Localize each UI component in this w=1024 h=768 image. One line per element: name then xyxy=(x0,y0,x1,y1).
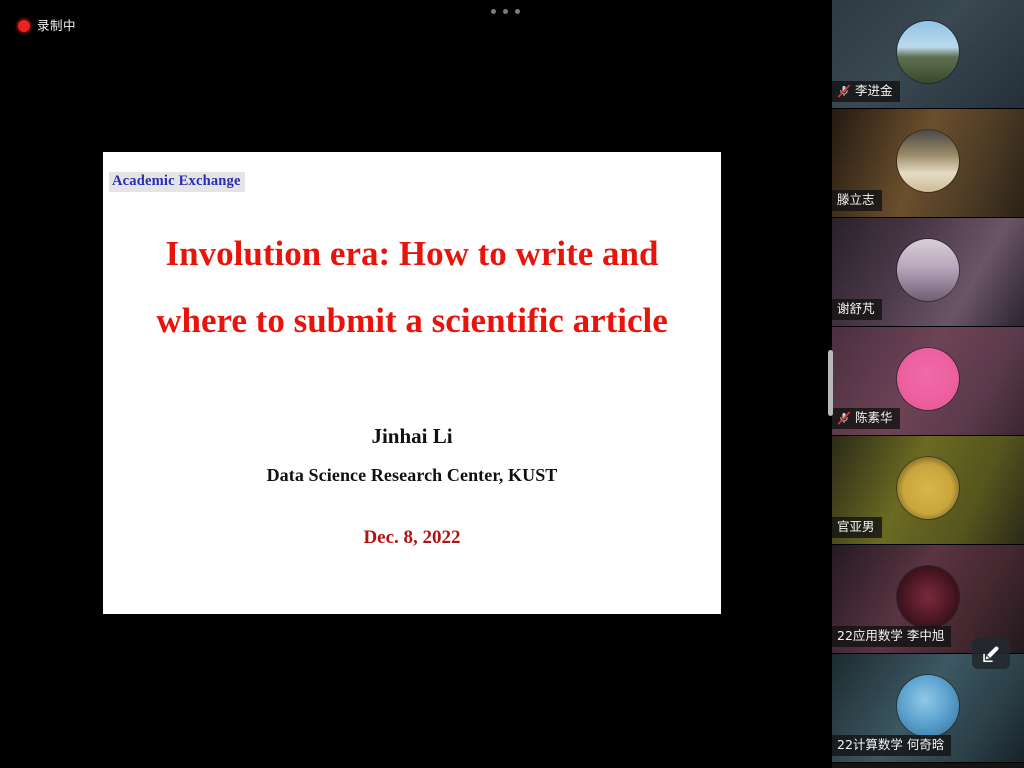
slide-author: Jinhai Li xyxy=(103,424,721,449)
avatar-image xyxy=(897,566,959,628)
participant-name-tag: 滕立志 xyxy=(832,190,882,211)
annotate-button[interactable] xyxy=(972,638,1010,669)
participant-name-tag: 官亚男 xyxy=(832,517,882,538)
slide-kicker: Academic Exchange xyxy=(109,172,245,192)
participant-name-tag: 李进金 xyxy=(832,81,900,102)
avatar xyxy=(897,348,959,410)
avatar-image xyxy=(897,130,959,192)
recording-indicator[interactable]: 录制中 xyxy=(14,16,80,36)
participant-tile[interactable]: 官亚男 xyxy=(832,436,1024,545)
presentation-slide: Academic Exchange Involution era: How to… xyxy=(103,152,721,614)
window-drag-handle[interactable] xyxy=(0,0,832,22)
vertical-scrollbar-thumb[interactable] xyxy=(828,350,833,416)
participant-name: 陈素华 xyxy=(855,410,893,426)
participant-tile[interactable]: 李进金 xyxy=(832,0,1024,109)
avatar xyxy=(897,566,959,628)
participant-tile[interactable]: 滕立志 xyxy=(832,109,1024,218)
zoom-meeting-window: Academic Exchange Involution era: How to… xyxy=(0,0,1024,768)
participant-name-tag: 谢舒芃 xyxy=(832,299,882,320)
avatar xyxy=(897,457,959,519)
slide-date: Dec. 8, 2022 xyxy=(103,527,721,549)
avatar-image xyxy=(897,239,959,301)
shared-screen-stage[interactable]: Academic Exchange Involution era: How to… xyxy=(0,0,832,768)
participant-name: 滕立志 xyxy=(837,192,875,208)
participant-tile[interactable]: 22计算数学 何奇晗 xyxy=(832,654,1024,763)
participant-name-tag: 22计算数学 何奇晗 xyxy=(832,735,951,756)
participant-name: 李进金 xyxy=(855,83,893,99)
participant-name: 22应用数学 李中旭 xyxy=(837,628,944,644)
avatar xyxy=(897,21,959,83)
slide-title-line-1: Involution era: How to write and xyxy=(125,220,699,287)
participant-name: 22计算数学 何奇晗 xyxy=(837,737,944,753)
avatar-image xyxy=(897,348,959,410)
participant-name: 谢舒芃 xyxy=(837,301,875,317)
avatar xyxy=(897,239,959,301)
participant-tile[interactable]: 谢舒芃 xyxy=(832,218,1024,327)
avatar-image xyxy=(897,675,959,737)
participant-name-tag: 22应用数学 李中旭 xyxy=(832,626,951,647)
three-dots-handle-icon xyxy=(491,9,520,14)
recording-label: 录制中 xyxy=(37,20,76,33)
filmstrip-scrollbar[interactable] xyxy=(828,0,833,768)
avatar xyxy=(897,675,959,737)
participant-name: 官亚男 xyxy=(837,519,875,535)
avatar-image xyxy=(897,21,959,83)
mic-muted-icon xyxy=(837,84,851,98)
avatar-image xyxy=(897,457,959,519)
participant-tile[interactable]: 陈素华 xyxy=(832,327,1024,436)
slide-affiliation: Data Science Research Center, KUST xyxy=(103,465,721,486)
slide-title: Involution era: How to write and where t… xyxy=(125,220,699,354)
mic-muted-icon xyxy=(837,411,851,425)
pen-annotate-icon xyxy=(982,644,1001,663)
avatar xyxy=(897,130,959,192)
slide-title-line-2: where to submit a scientific article xyxy=(125,287,699,354)
participant-name-tag: 陈素华 xyxy=(832,408,900,429)
record-dot-icon xyxy=(18,20,30,32)
